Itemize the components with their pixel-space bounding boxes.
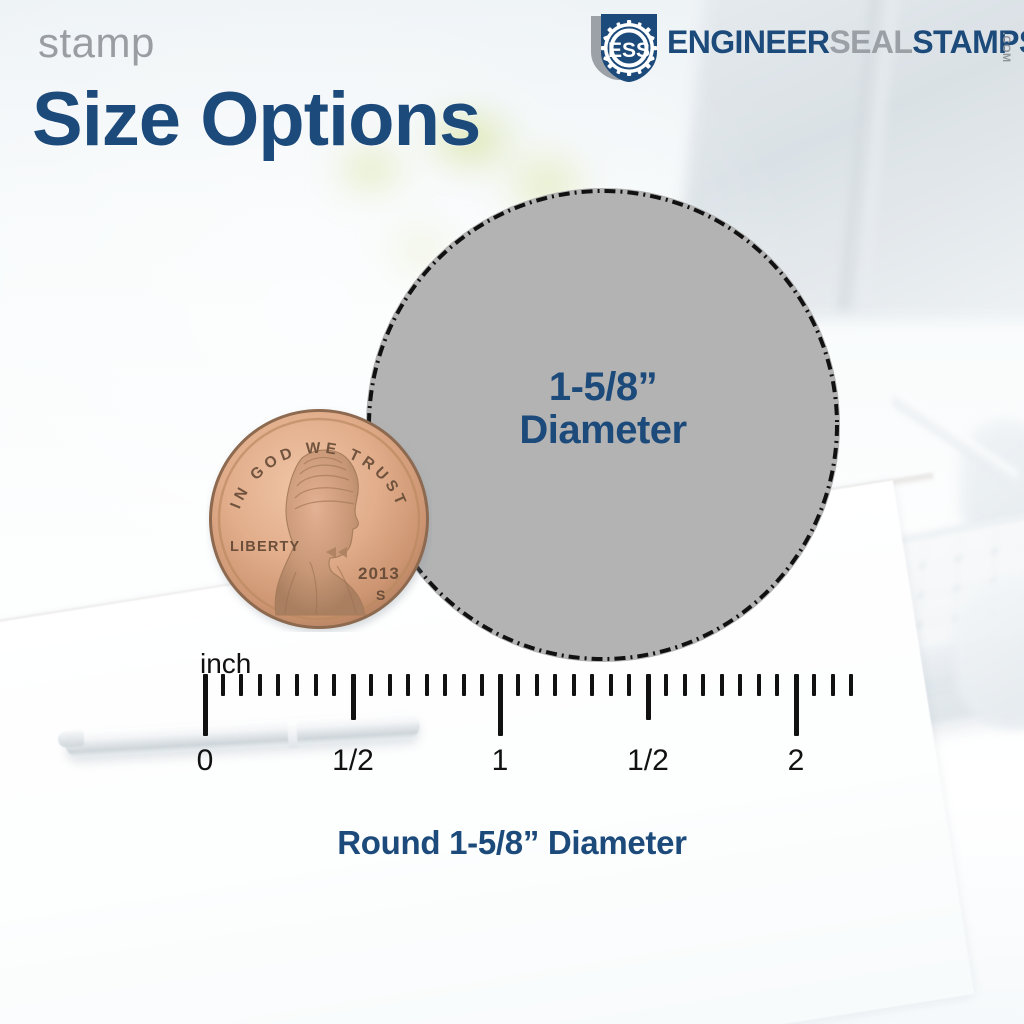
gear-badge-icon: ESS <box>585 12 661 84</box>
ruler-tick-minor <box>812 674 816 696</box>
ruler-tick-minor <box>369 674 373 696</box>
page-title: Size Options <box>32 82 480 158</box>
ruler-unit-label: inch <box>200 648 251 680</box>
ruler-tick-half <box>351 674 356 720</box>
ruler-tick-minor <box>553 674 557 696</box>
stamp-shape-preview: 1-5/8” Diameter <box>366 188 840 662</box>
logo-word-dotcom: .COM <box>1000 32 1012 63</box>
ruler-label: 0 <box>197 744 214 778</box>
ruler-tick-minor <box>480 674 484 696</box>
logo-word-engineer: ENGINEER <box>667 24 829 60</box>
ruler-tick-major <box>203 674 208 736</box>
logo-word-seal: SEAL <box>829 24 912 60</box>
ruler-tick-minor <box>775 674 779 696</box>
ruler-tick-minor <box>738 674 742 696</box>
ruler-tick-minor <box>516 674 520 696</box>
ruler-label: 1/2 <box>332 744 374 778</box>
brand-logo[interactable]: ESS ENGINEERSEALSTAMPS .COM <box>585 8 1010 86</box>
ruler-tick-minor <box>831 674 835 696</box>
eyebrow-label: stamp <box>38 22 155 64</box>
ruler-tick-minor <box>406 674 410 696</box>
ruler-tick-minor <box>757 674 761 696</box>
ruler-tick-major <box>498 674 503 736</box>
ruler-tick-minor <box>295 674 299 696</box>
ruler-label: 1 <box>492 744 509 778</box>
stamp-size-line1: 1-5/8” <box>549 365 657 409</box>
ruler-tick-minor <box>314 674 318 696</box>
ruler-tick-minor <box>332 674 336 696</box>
ruler-label: 2 <box>788 744 805 778</box>
us-penny-icon: IN GOD WE TRUST LIBERTY 2013 S <box>206 406 432 632</box>
ruler-tick-minor <box>701 674 705 696</box>
ruler-tick-minor <box>664 674 668 696</box>
ruler-tick-minor <box>849 674 853 696</box>
ruler-tick-major <box>794 674 799 736</box>
stamp-size-text: 1-5/8” Diameter <box>366 366 840 452</box>
coin-mint-mark-text: S <box>376 587 385 603</box>
ruler-tick-minor <box>627 674 631 696</box>
ruler-tick-minor <box>683 674 687 696</box>
ruler-label: 1/2 <box>627 744 669 778</box>
badge-text-ess: ESS <box>608 39 650 62</box>
ruler-tick-minor <box>535 674 539 696</box>
ruler-tick-minor <box>572 674 576 696</box>
ruler-tick-minor <box>239 674 243 696</box>
ruler-tick-minor <box>221 674 225 696</box>
ruler-tick-minor <box>276 674 280 696</box>
ruler-tick-minor <box>590 674 594 696</box>
ruler-tick-minor <box>388 674 392 696</box>
coin-year-text: 2013 <box>358 564 400 583</box>
ruler-tick-minor <box>425 674 429 696</box>
ruler-tick-minor <box>462 674 466 696</box>
ruler-tick-minor <box>258 674 262 696</box>
size-caption: Round 1-5/8” Diameter <box>0 824 1024 862</box>
ruler-tick-half <box>646 674 651 720</box>
ruler-tick-minor <box>443 674 447 696</box>
ruler-tick-minor <box>609 674 613 696</box>
logo-wordmark: ENGINEERSEALSTAMPS <box>667 26 1024 58</box>
coin-liberty-text: LIBERTY <box>230 539 300 555</box>
inch-ruler: inch 01/211/22 <box>0 640 1024 820</box>
stamp-size-line2: Diameter <box>366 409 840 452</box>
size-options-graphic: stamp Size Options <box>0 0 1024 1024</box>
ruler-tick-minor <box>720 674 724 696</box>
